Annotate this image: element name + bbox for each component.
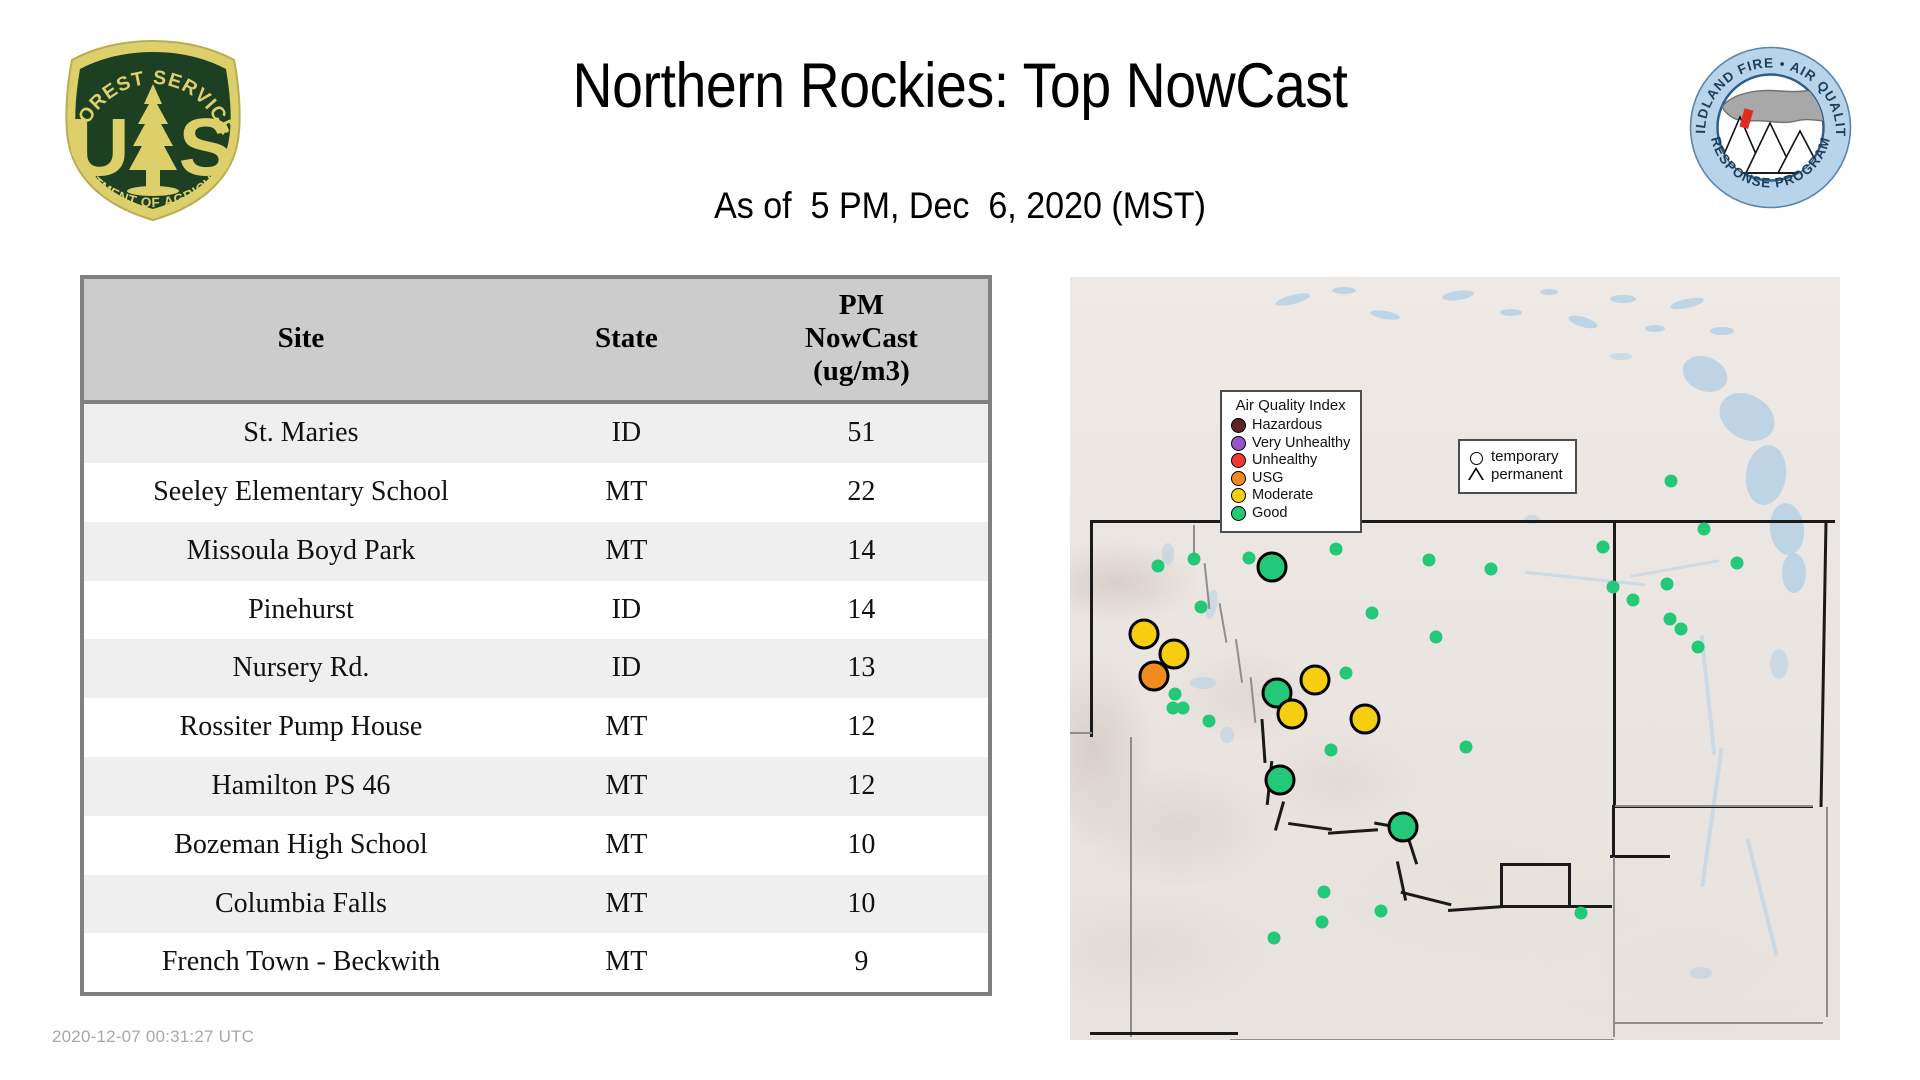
montana-wyoming-border: [1500, 863, 1503, 907]
monitor-dot-small[interactable]: [1430, 631, 1443, 644]
column-header-site: Site: [84, 279, 518, 402]
aqi-legend-label: Unhealthy: [1252, 453, 1317, 468]
page-title: Northern Rockies: Top NowCast: [115, 52, 1805, 121]
monitor-dot-small[interactable]: [1460, 741, 1473, 754]
monitor-dot-large[interactable]: [1300, 665, 1331, 696]
aqi-swatch-icon: [1231, 471, 1246, 486]
wildland-fire-air-quality-response-program-logo: WILDLAND FIRE • AIR QUALITY RESPONSE PRO…: [1688, 45, 1853, 210]
cell-site: Hamilton PS 46: [84, 757, 518, 816]
water-body: [1332, 287, 1356, 294]
cell-site: Columbia Falls: [84, 875, 518, 934]
table-header-row: Site State PM NowCast (ug/m3): [84, 279, 988, 402]
monitor-dot-small[interactable]: [1423, 554, 1436, 567]
water-body: [1645, 325, 1665, 332]
monitor-dot-small[interactable]: [1325, 744, 1338, 757]
monitor-dot-small[interactable]: [1698, 523, 1711, 536]
aqi-swatch-icon: [1231, 418, 1246, 433]
cell-state: MT: [518, 698, 735, 757]
cell-state: MT: [518, 522, 735, 581]
cell-value: 10: [735, 875, 988, 934]
column-header-state: State: [518, 279, 735, 402]
cell-site: Bozeman High School: [84, 816, 518, 875]
footer-timestamp: 2020-12-07 00:31:27 UTC: [52, 1027, 254, 1047]
column-header-line-3: (ug/m3): [739, 355, 984, 388]
usfs-shield-logo: FOREST SERVICE DEPARTMENT OF AGRICULTURE…: [48, 28, 258, 228]
aqi-legend-label: Very Unhealthy: [1252, 436, 1350, 451]
monitor-dot-small[interactable]: [1195, 601, 1208, 614]
table-row[interactable]: Seeley Elementary SchoolMT22: [84, 463, 988, 522]
aqi-swatch-icon: [1231, 488, 1246, 503]
cell-value: 9: [735, 933, 988, 992]
cell-value: 14: [735, 581, 988, 640]
cell-state: ID: [518, 639, 735, 698]
monitor-dot-small[interactable]: [1366, 607, 1379, 620]
idaho-west-border: [1090, 520, 1093, 732]
water-body: [1770, 649, 1788, 679]
monitor-dot-small[interactable]: [1597, 541, 1610, 554]
monitor-dot-small[interactable]: [1203, 715, 1216, 728]
monitor-dot-small[interactable]: [1318, 886, 1331, 899]
us-canada-border: [1090, 520, 1835, 523]
table-row[interactable]: Columbia FallsMT10: [84, 875, 988, 934]
monitor-dot-small[interactable]: [1316, 916, 1329, 929]
nowcast-table: Site State PM NowCast (ug/m3) St. Maries…: [80, 275, 992, 996]
yellowstone-outline: [1568, 863, 1571, 905]
monitor-dot-large[interactable]: [1388, 812, 1419, 843]
oregon-nevada-border: [1090, 1032, 1238, 1035]
monitor-dot-small[interactable]: [1731, 557, 1744, 570]
cell-state: MT: [518, 463, 735, 522]
aqi-legend: Air Quality Index HazardousVery Unhealth…: [1220, 390, 1362, 533]
column-header-line-2: NowCast: [739, 322, 984, 355]
cell-site: St. Maries: [84, 402, 518, 463]
monitor-dot-small[interactable]: [1152, 560, 1165, 573]
cell-site: French Town - Beckwith: [84, 933, 518, 992]
montana-south-dakota-border: [1612, 805, 1615, 857]
monitor-dot-small[interactable]: [1340, 667, 1353, 680]
page-subtitle: As of 5 PM, Dec 6, 2020 (MST): [77, 185, 1843, 227]
monitor-dot-small[interactable]: [1268, 932, 1281, 945]
cell-value: 12: [735, 757, 988, 816]
montana-wyoming-border: [1502, 905, 1612, 908]
idaho-oregon-border: [1130, 737, 1132, 1037]
aqi-swatch-icon: [1231, 453, 1246, 468]
water-body: [1782, 553, 1806, 593]
cell-value: 10: [735, 816, 988, 875]
cell-value: 12: [735, 698, 988, 757]
aqi-legend-label: USG: [1252, 471, 1283, 486]
monitor-dot-small[interactable]: [1661, 578, 1674, 591]
cell-state: MT: [518, 816, 735, 875]
table-row[interactable]: French Town - BeckwithMT9: [84, 933, 988, 992]
cell-site: Rossiter Pump House: [84, 698, 518, 757]
aqi-legend-item: Moderate: [1231, 488, 1350, 503]
cell-value: 14: [735, 522, 988, 581]
monitor-dot-small[interactable]: [1627, 594, 1640, 607]
water-body: [1540, 289, 1558, 295]
wyoming-colorado-border: [1230, 1039, 1614, 1040]
water-body: [1220, 727, 1234, 743]
aqi-legend-item: USG: [1231, 471, 1350, 486]
montana-wyoming-border: [1500, 863, 1570, 866]
monitor-dot-large[interactable]: [1257, 552, 1288, 583]
wyoming-south-dakota-border: [1613, 857, 1615, 1037]
cell-value: 51: [735, 402, 988, 463]
temporary-monitor-label: temporary: [1491, 448, 1563, 466]
monitor-dot-large[interactable]: [1129, 619, 1160, 650]
aqi-legend-label: Good: [1252, 506, 1287, 521]
water-body: [1610, 295, 1636, 303]
cell-value: 22: [735, 463, 988, 522]
air-quality-map[interactable]: Air Quality Index HazardousVery Unhealth…: [1070, 277, 1840, 1040]
aqi-swatch-icon: [1231, 506, 1246, 521]
montana-north-dakota-border: [1613, 520, 1616, 806]
cell-site: Nursery Rd.: [84, 639, 518, 698]
usfs-letter-u: U: [70, 102, 129, 193]
cell-state: ID: [518, 402, 735, 463]
table-row[interactable]: Nursery Rd.ID13: [84, 639, 988, 698]
aqi-swatch-icon: [1231, 436, 1246, 451]
cell-state: MT: [518, 933, 735, 992]
monitor-type-legend: temporary permanent: [1458, 439, 1577, 494]
monitor-dot-small[interactable]: [1243, 552, 1256, 565]
monitor-dot-large[interactable]: [1350, 704, 1381, 735]
aqi-legend-label: Hazardous: [1252, 418, 1322, 433]
south-dakota-minnesota-border: [1826, 807, 1828, 1017]
table-row[interactable]: Rossiter Pump HouseMT12: [84, 698, 988, 757]
monitor-dot-small[interactable]: [1675, 623, 1688, 636]
table-row[interactable]: PinehurstID14: [84, 581, 988, 640]
water-body: [1190, 677, 1216, 689]
permanent-monitor-label: permanent: [1491, 466, 1563, 484]
monitor-dot-large[interactable]: [1265, 765, 1296, 796]
monitor-dot-small[interactable]: [1375, 905, 1388, 918]
monitor-dot-small[interactable]: [1665, 475, 1678, 488]
monitor-type-symbols: [1468, 452, 1484, 480]
water-body: [1710, 327, 1734, 335]
monitor-dot-small[interactable]: [1330, 543, 1343, 556]
monitor-dot-large[interactable]: [1139, 661, 1170, 692]
temporary-monitor-icon: [1470, 452, 1483, 465]
water-body: [1500, 309, 1522, 316]
cell-site: Missoula Boyd Park: [84, 522, 518, 581]
cell-site: Seeley Elementary School: [84, 463, 518, 522]
monitor-dot-small[interactable]: [1485, 563, 1498, 576]
permanent-monitor-icon: [1468, 467, 1484, 480]
usfs-letter-s: S: [179, 102, 234, 193]
aqi-legend-item: Unhealthy: [1231, 453, 1350, 468]
monitor-dot-small[interactable]: [1177, 702, 1190, 715]
cell-state: MT: [518, 875, 735, 934]
washington-oregon-border: [1070, 732, 1092, 734]
table-row[interactable]: Bozeman High SchoolMT10: [84, 816, 988, 875]
monitor-dot-small[interactable]: [1169, 688, 1182, 701]
aqi-legend-item: Good: [1231, 506, 1350, 521]
aqi-legend-label: Moderate: [1252, 488, 1313, 503]
cell-value: 13: [735, 639, 988, 698]
aqi-legend-title: Air Quality Index: [1231, 398, 1350, 413]
table-row[interactable]: St. MariesID51: [84, 402, 988, 463]
monitor-dot-small[interactable]: [1692, 641, 1705, 654]
aqi-legend-item: Very Unhealthy: [1231, 436, 1350, 451]
water-body: [1610, 353, 1632, 360]
table-row[interactable]: Missoula Boyd ParkMT14: [84, 522, 988, 581]
cell-site: Pinehurst: [84, 581, 518, 640]
column-header-line-1: PM: [739, 289, 984, 322]
monitor-dot-small[interactable]: [1607, 581, 1620, 594]
south-dakota-nebraska-border: [1613, 1022, 1823, 1024]
monitor-dot-small[interactable]: [1575, 907, 1588, 920]
wyoming-south-dakota-border: [1610, 855, 1670, 858]
monitor-dot-large[interactable]: [1277, 699, 1308, 730]
column-header-pm-nowcast: PM NowCast (ug/m3): [735, 279, 988, 402]
monitor-dot-small[interactable]: [1188, 553, 1201, 566]
cell-state: MT: [518, 757, 735, 816]
table-row[interactable]: Hamilton PS 46MT12: [84, 757, 988, 816]
north-dakota-south-dakota-border: [1613, 805, 1813, 807]
aqi-legend-item: Hazardous: [1231, 418, 1350, 433]
monitor-dot-small[interactable]: [1664, 613, 1677, 626]
cell-state: ID: [518, 581, 735, 640]
water-body: [1162, 543, 1174, 565]
water-body: [1690, 967, 1712, 979]
